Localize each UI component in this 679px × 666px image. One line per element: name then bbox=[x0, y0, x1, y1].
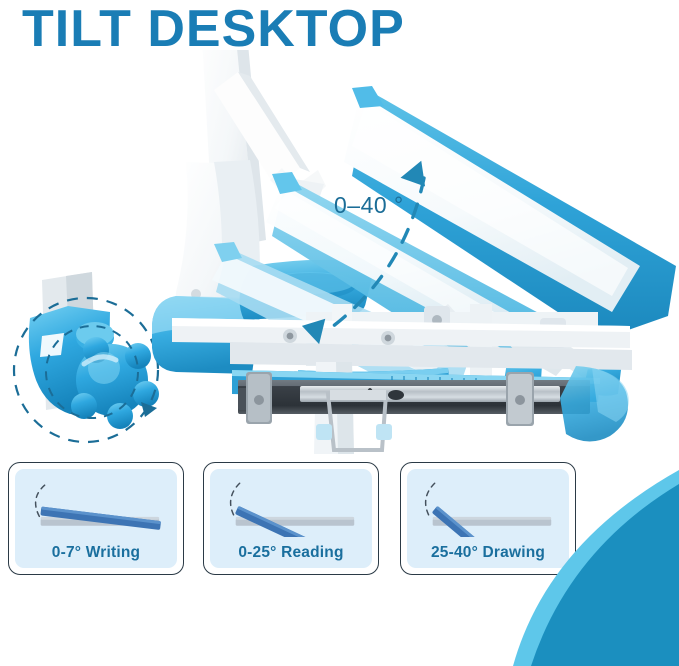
card-label-drawing: 25-40° Drawing bbox=[407, 544, 569, 562]
reading-angle-diagram bbox=[210, 469, 372, 537]
card-inner-panel: 25-40° Drawing bbox=[407, 469, 569, 568]
infographic-canvas: TILT DESKTOP bbox=[0, 0, 679, 666]
tilt-mode-card-drawing[interactable]: 25-40° Drawing bbox=[400, 462, 576, 575]
writing-angle-diagram bbox=[15, 469, 177, 537]
tilt-mode-card-reading[interactable]: 0-25° Reading bbox=[203, 462, 379, 575]
card-label-reading: 0-25° Reading bbox=[210, 544, 372, 562]
adjustment-knob-detail-callout bbox=[14, 272, 159, 442]
card-label-writing: 0-7° Writing bbox=[15, 544, 177, 562]
drawer-rail bbox=[238, 372, 590, 450]
product-illustration bbox=[0, 50, 679, 455]
tilt-mode-card-writing[interactable]: 0-7° Writing bbox=[8, 462, 184, 575]
drawing-angle-diagram bbox=[407, 469, 569, 537]
card-inner-panel: 0-25° Reading bbox=[210, 469, 372, 568]
tilt-mode-cards: 0-7° Writing 0-25° Reading bbox=[0, 462, 679, 577]
card-inner-panel: 0-7° Writing bbox=[15, 469, 177, 568]
page-title: TILT DESKTOP bbox=[22, 2, 405, 57]
tilt-angle-annotation: 0–40 ° bbox=[334, 192, 404, 219]
